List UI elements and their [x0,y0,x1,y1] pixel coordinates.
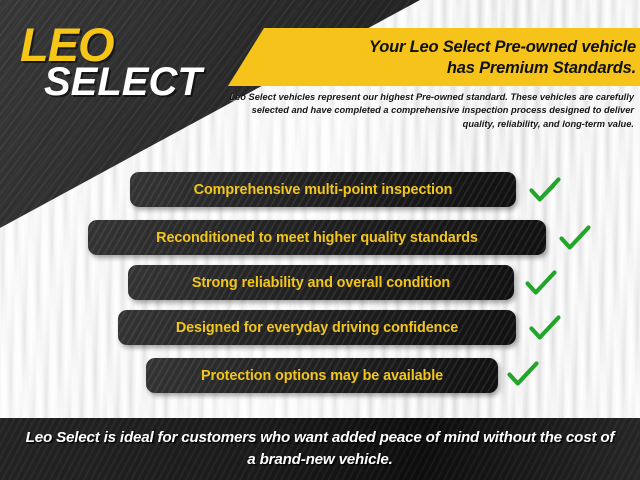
page-title: Your Leo Select Pre-owned vehicle has Pr… [240,30,640,86]
intro-paragraph: Leo Select vehicles represent our highes… [218,91,634,131]
feature-pill: Reconditioned to meet higher quality sta… [88,220,546,255]
feature-pill: Designed for everyday driving confidence [118,310,516,345]
leo-select-logo: LEO SELECT [20,24,202,102]
feature-label: Protection options may be available [201,368,443,384]
logo-word-select: SELECT [44,62,202,102]
feature-label: Strong reliability and overall condition [192,275,450,291]
check-icon [528,176,562,206]
feature-label: Comprehensive multi-point inspection [194,182,453,198]
feature-pill: Strong reliability and overall condition [128,265,514,300]
check-icon [558,224,592,254]
slide-canvas: LEO SELECT Your Leo Select Pre-owned veh… [0,0,640,480]
title-line-2: has Premium Standards. [447,58,636,79]
footer-banner: Leo Select is ideal for customers who wa… [0,418,640,480]
check-icon [528,314,562,344]
feature-label: Designed for everyday driving confidence [176,320,458,336]
check-icon [524,269,558,299]
title-line-1: Your Leo Select Pre-owned vehicle [369,37,636,58]
footer-text: Leo Select is ideal for customers who wa… [20,427,620,471]
check-icon [506,360,540,390]
feature-pill: Protection options may be available [146,358,498,393]
feature-label: Reconditioned to meet higher quality sta… [156,230,478,246]
feature-pill: Comprehensive multi-point inspection [130,172,516,207]
